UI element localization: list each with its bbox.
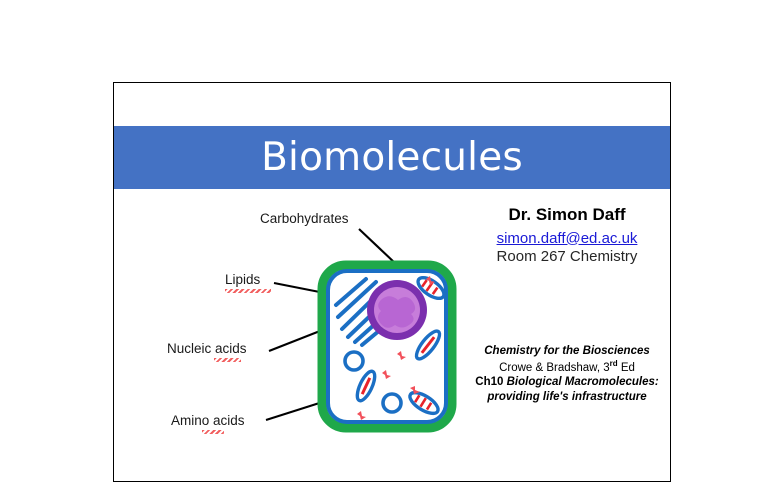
book-authors-prefix: Crowe & Bradshaw, 3 bbox=[499, 362, 610, 374]
leader-line-carbohydrates bbox=[359, 229, 414, 281]
label-nucleic-acids: Nucleic acids bbox=[167, 341, 247, 356]
book-chapter-title: Biological Macromolecules: bbox=[507, 376, 659, 388]
mitochondrion bbox=[354, 369, 378, 403]
leader-line-nucleic-acids bbox=[269, 305, 386, 351]
spellcheck-squiggle-amino bbox=[202, 430, 224, 434]
ribosome bbox=[397, 351, 406, 360]
label-lipids: Lipids bbox=[225, 272, 260, 287]
ribosome bbox=[382, 370, 391, 379]
presenter-name: Dr. Simon Daff bbox=[469, 205, 665, 225]
mitochondria-group bbox=[354, 274, 448, 418]
label-amino-acids: Amino acids bbox=[171, 413, 245, 428]
leader-lines bbox=[266, 229, 414, 420]
book-authors: Crowe & Bradshaw, 3rd Ed bbox=[464, 359, 670, 376]
contact-block: Dr. Simon Daff simon.daff@ed.ac.uk Room … bbox=[469, 205, 665, 265]
ribosome bbox=[410, 386, 420, 394]
textbook-reference: Chemistry for the Biosciences Crowe & Br… bbox=[464, 344, 670, 405]
email-link[interactable]: simon.daff@ed.ac.uk bbox=[469, 230, 665, 247]
label-carbohydrates: Carbohydrates bbox=[260, 211, 349, 226]
spellcheck-squiggle-nucleic bbox=[214, 358, 241, 362]
cell-membrane bbox=[328, 271, 446, 422]
ribosome-group bbox=[357, 276, 435, 420]
mitochondrion bbox=[413, 328, 443, 362]
book-authors-suffix: Ed bbox=[618, 362, 635, 374]
book-title: Chemistry for the Biosciences bbox=[464, 344, 670, 359]
mitochondrion bbox=[407, 389, 442, 418]
book-chapter: Ch10 Biological Macromolecules: bbox=[464, 375, 670, 390]
ribosome bbox=[426, 276, 435, 285]
leader-line-lipids bbox=[274, 283, 350, 298]
leader-line-amino-acids bbox=[266, 385, 376, 420]
book-edition-ordinal: rd bbox=[610, 359, 618, 368]
endoplasmic-reticulum-icon bbox=[336, 279, 398, 345]
page-title: Biomolecules bbox=[261, 138, 523, 177]
room-location: Room 267 Chemistry bbox=[469, 248, 665, 265]
ribosome bbox=[357, 411, 366, 420]
vacuole-group bbox=[345, 352, 401, 412]
spellcheck-squiggle-lipids bbox=[225, 289, 271, 293]
book-chapter-subtitle: providing life's infrastructure bbox=[464, 390, 670, 405]
cell-body bbox=[322, 265, 452, 428]
vacuole bbox=[345, 352, 363, 370]
vacuole bbox=[383, 394, 401, 412]
nucleus-icon bbox=[367, 280, 427, 340]
book-chapter-number: Ch10 bbox=[475, 376, 506, 388]
presentation-slide: Biomolecules bbox=[113, 82, 671, 482]
mitochondrion bbox=[415, 274, 448, 303]
cell-wall bbox=[322, 265, 452, 428]
title-banner: Biomolecules bbox=[114, 126, 670, 189]
